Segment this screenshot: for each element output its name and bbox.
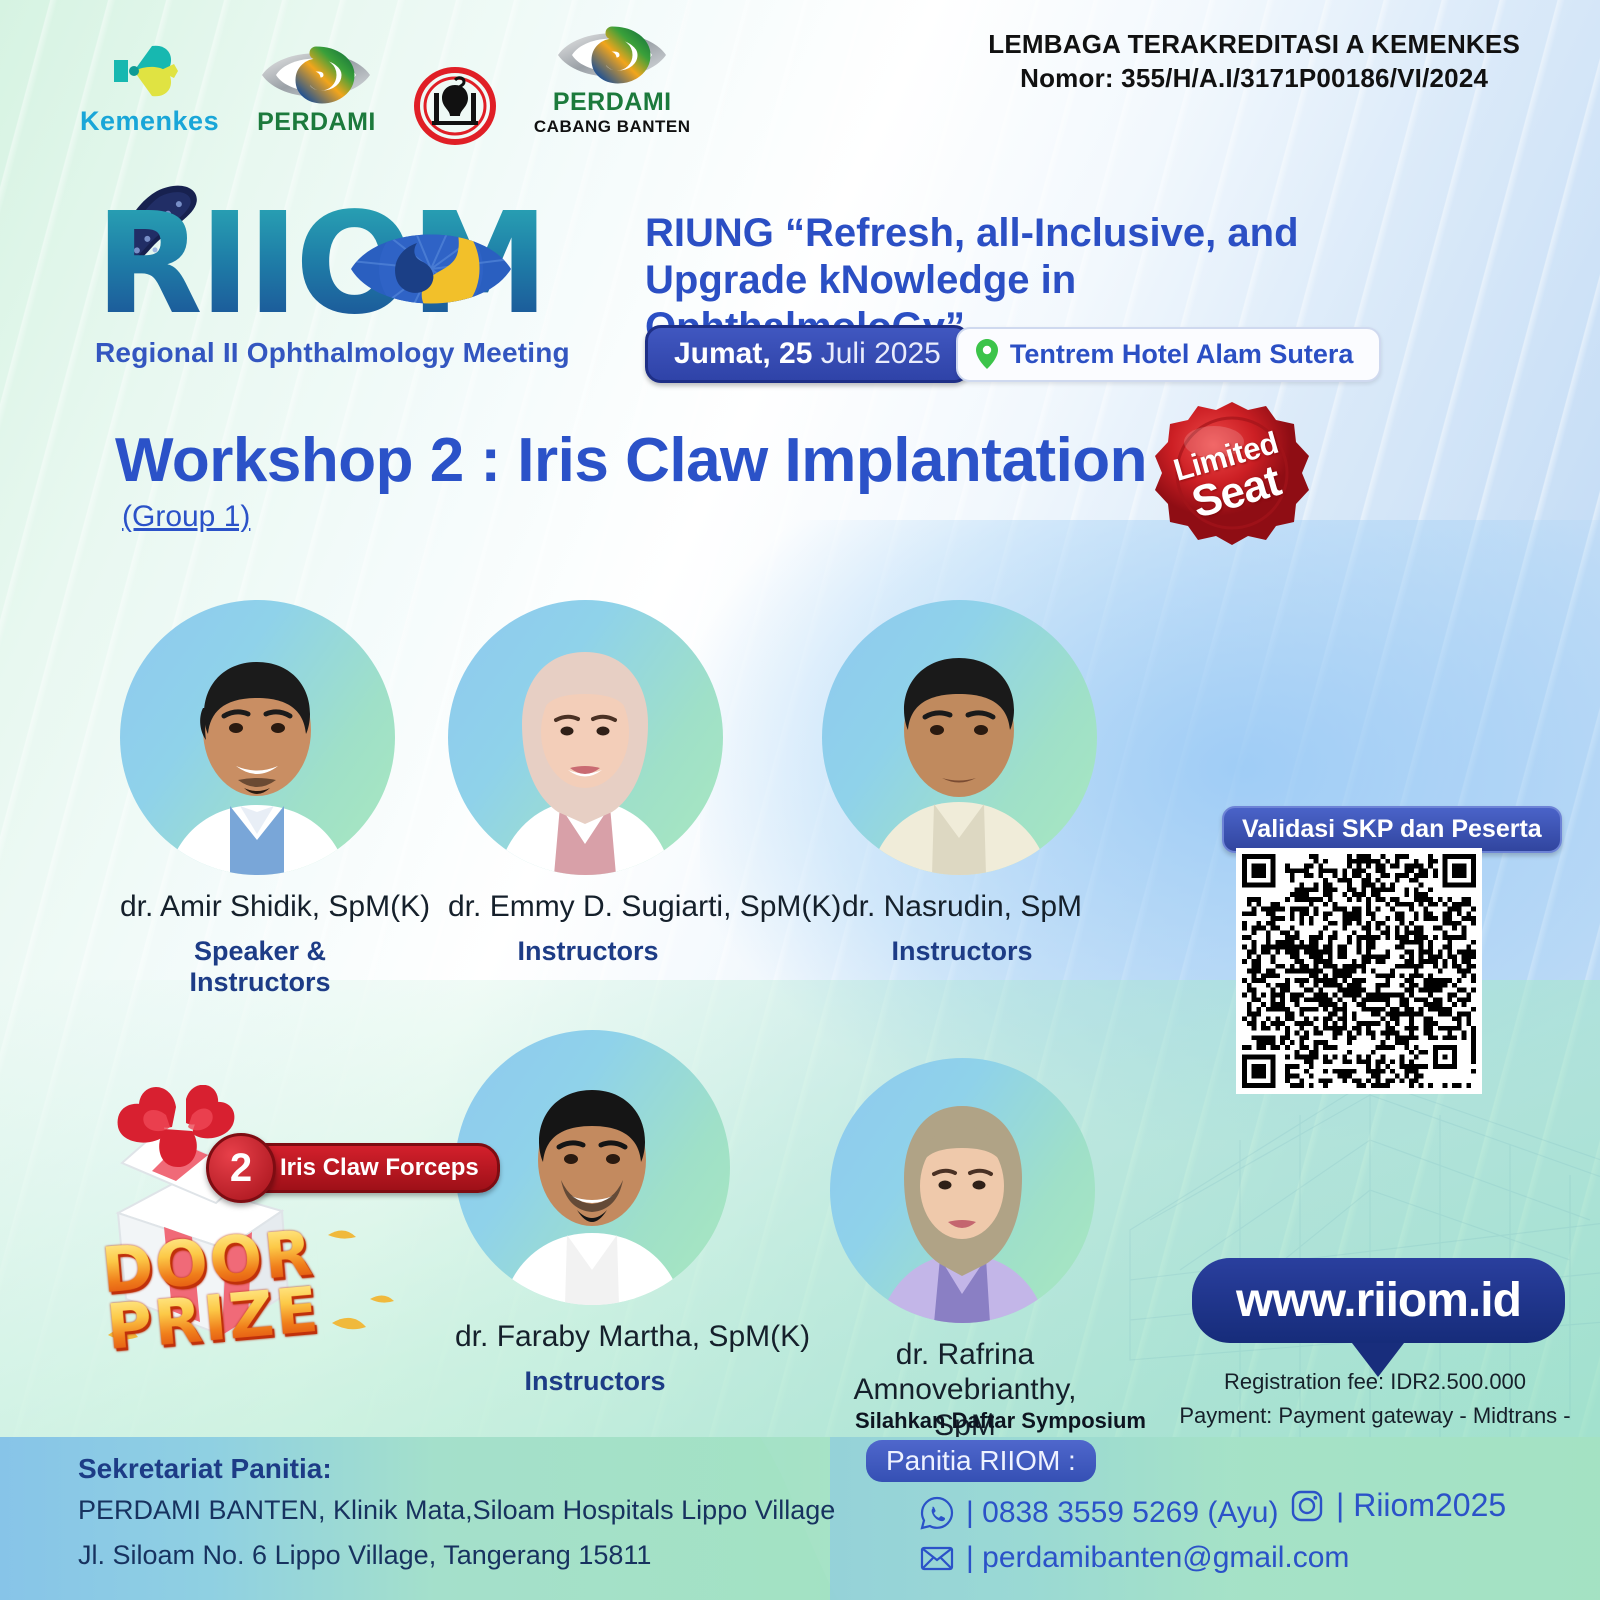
- instagram-row[interactable]: | Riiom2025: [1290, 1487, 1506, 1524]
- speaker-photo-emmy-sugiarti: [448, 600, 723, 875]
- speaker-photo-nasrudin: [822, 600, 1097, 875]
- perdami-banten-logo: PERDAMI CABANG BANTEN: [534, 24, 691, 137]
- instagram-handle: | Riiom2025: [1336, 1487, 1506, 1524]
- date-bold: Jumat, 25: [674, 337, 812, 370]
- idi-mark: [414, 75, 496, 137]
- secretariat-line-1: PERDAMI BANTEN, Klinik Mata,Siloam Hospi…: [78, 1491, 835, 1530]
- speaker-name: dr. Emmy D. Sugiarti, SpM(K): [448, 889, 728, 924]
- avatar: [448, 600, 723, 875]
- door-prize-graphic: Iris Claw Forceps 2 DOOR PRIZE: [60, 1085, 450, 1375]
- date-venue-row: Jumat, 25 Juli 2025 Tentrem Hotel Alam S…: [645, 325, 1381, 383]
- instagram-icon: [1290, 1489, 1324, 1523]
- perdami-logo: PERDAMI: [257, 44, 376, 137]
- qr-code[interactable]: [1236, 848, 1482, 1094]
- speaker-name: dr. Faraby Martha, SpM(K): [455, 1319, 735, 1354]
- map-pin-icon: [976, 339, 998, 369]
- speaker-role: Instructors: [455, 1366, 735, 1397]
- accreditation-line2: Nomor: 355/H/A.I/3171P00186/VI/2024: [988, 62, 1520, 96]
- limited-seat-seal: Limited Seat: [1152, 398, 1312, 558]
- date-badge: Jumat, 25 Juli 2025: [645, 325, 970, 383]
- riiom-eye-globe-icon: [347, 209, 515, 329]
- poster-canvas: Kemenkes: [0, 0, 1600, 1600]
- secretariat-title: Sekretariat Panitia:: [78, 1453, 835, 1485]
- speaker-name-line1: dr. Rafrina: [896, 1338, 1034, 1371]
- contact-list: | 0838 3559 5269 (Ayu) | perdamibanten@g…: [920, 1490, 1349, 1580]
- kemenkes-label: Kemenkes: [80, 106, 219, 137]
- speaker-card: dr. Emmy D. Sugiarti, SpM(K) Instructors: [448, 600, 728, 967]
- website-bubble[interactable]: www.riiom.id: [1192, 1258, 1565, 1377]
- kemenkes-logo: Kemenkes: [80, 40, 219, 137]
- door-prize-count: 2: [206, 1133, 276, 1203]
- secretariat-line-2: Jl. Siloam No. 6 Lippo Village, Tangeran…: [78, 1536, 835, 1575]
- venue-label: Tentrem Hotel Alam Sutera: [1010, 339, 1354, 370]
- speaker-card: dr. Faraby Martha, SpM(K) Instructors: [455, 1030, 735, 1397]
- website-url[interactable]: www.riiom.id: [1192, 1258, 1565, 1343]
- speaker-name: dr. Amir Shidik, SpM(K): [120, 889, 400, 924]
- kemenkes-mark: [104, 40, 196, 102]
- fee-line-2: Payment: Payment gateway - Midtrans -: [1155, 1399, 1595, 1433]
- speaker-photo-amir-shidik: [120, 600, 395, 875]
- speaker-photo-rafrina: [830, 1058, 1095, 1323]
- avatar: [120, 600, 395, 875]
- workshop-title: Workshop 2 : Iris Claw Implantation: [115, 425, 1147, 496]
- speaker-role: Instructors: [448, 936, 728, 967]
- workshop-group: (Group 1): [122, 500, 250, 534]
- whatsapp-icon: [920, 1496, 954, 1530]
- perdami-banten-mark: [556, 24, 668, 86]
- tagline-line-1: RIUNG “Refresh, all-Inclusive, and: [645, 210, 1385, 257]
- perdami-banten-sublabel: CABANG BANTEN: [534, 117, 691, 137]
- riiom-logo-block: RIIOM Regional II Ophthalmology Meeting: [95, 195, 625, 369]
- speaker-name: dr. Nasrudin, SpM: [822, 889, 1102, 924]
- venue-badge: Tentrem Hotel Alam Sutera: [956, 327, 1382, 382]
- avatar: [822, 600, 1097, 875]
- email-address: | perdamibanten@gmail.com: [966, 1535, 1349, 1580]
- door-prize-word-2: PRIZE: [104, 1281, 322, 1356]
- perdami-banten-label: PERDAMI: [553, 88, 672, 117]
- door-prize-wordmark: DOOR PRIZE: [99, 1224, 322, 1356]
- perdami-label: PERDAMI: [257, 108, 376, 137]
- fee-line-1: Registration fee: IDR2.500.000: [1155, 1365, 1595, 1399]
- validasi-skp-badge: Validasi SKP dan Peserta: [1222, 806, 1562, 853]
- speaker-role: Speaker & Instructors: [120, 936, 400, 998]
- accreditation-block: LEMBAGA TERAKREDITASI A KEMENKES Nomor: …: [988, 28, 1520, 96]
- speaker-card: dr. Amir Shidik, SpM(K) Speaker & Instru…: [120, 600, 400, 998]
- panitia-badge: Panitia RIIOM :: [866, 1440, 1096, 1482]
- date-light: Juli 2025: [821, 337, 941, 370]
- whatsapp-row[interactable]: | 0838 3559 5269 (Ayu): [920, 1490, 1349, 1535]
- accreditation-line1: LEMBAGA TERAKREDITASI A KEMENKES: [988, 28, 1520, 62]
- envelope-icon: [920, 1541, 954, 1575]
- silahkan-daftar-text: Silahkan Daftar Symposium: [855, 1408, 1146, 1434]
- whatsapp-number: | 0838 3559 5269 (Ayu): [966, 1490, 1278, 1535]
- idi-logo: [414, 75, 496, 137]
- speaker-card: dr. Nasrudin, SpM Instructors: [822, 600, 1102, 967]
- secretariat-block: Sekretariat Panitia: PERDAMI BANTEN, Kli…: [78, 1453, 835, 1575]
- perdami-mark: [260, 44, 372, 106]
- speaker-role: Instructors: [822, 936, 1102, 967]
- organizer-logos: Kemenkes: [80, 24, 691, 137]
- email-row[interactable]: | perdamibanten@gmail.com: [920, 1535, 1349, 1580]
- avatar: [830, 1058, 1095, 1323]
